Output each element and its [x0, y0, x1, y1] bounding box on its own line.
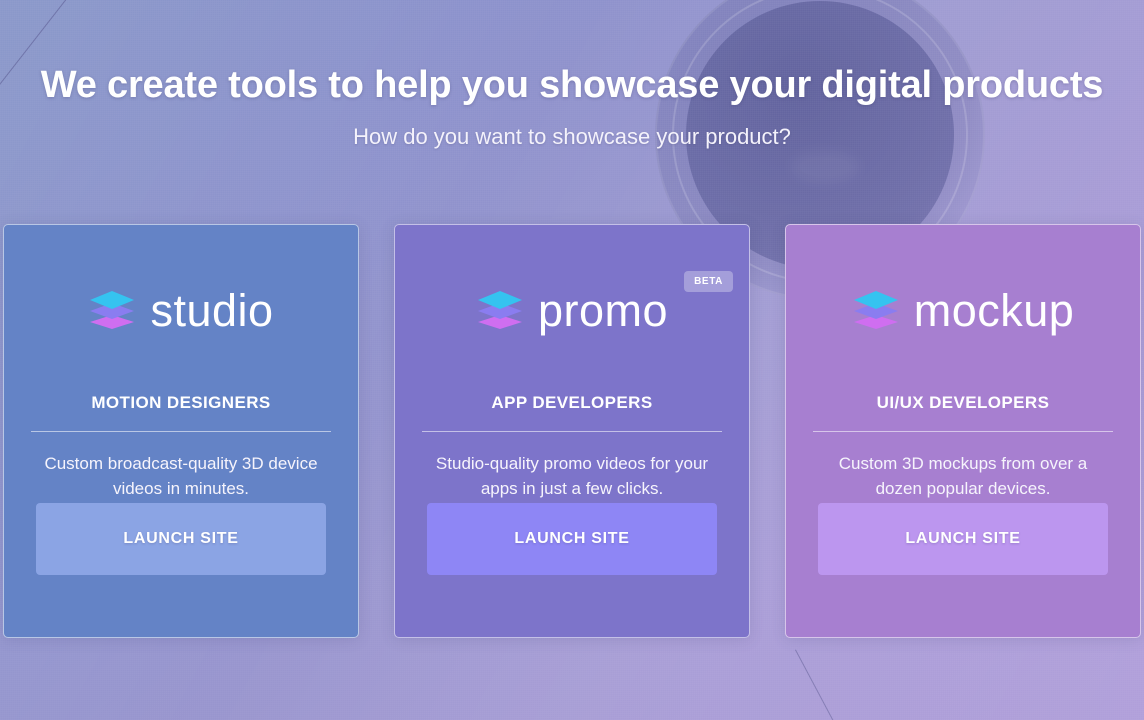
launch-site-button-studio[interactable]: LAUNCH SITE — [36, 503, 326, 575]
product-audience-label: MOTION DESIGNERS — [91, 393, 270, 413]
product-logo-mockup: mockup — [818, 281, 1108, 339]
product-card-studio[interactable]: studio MOTION DESIGNERS Custom broadcast… — [3, 224, 359, 638]
product-audience-label: UI/UX DEVELOPERS — [877, 393, 1050, 413]
page-subtitle: How do you want to showcase your product… — [0, 124, 1144, 150]
layers-icon — [476, 289, 524, 331]
product-logo-studio: studio — [36, 281, 326, 339]
product-card-promo[interactable]: BETA promo APP DEVELOPERS Studio-quality… — [394, 224, 750, 638]
launch-site-button-mockup[interactable]: LAUNCH SITE — [818, 503, 1108, 575]
layers-icon — [88, 289, 136, 331]
product-card-mockup[interactable]: mockup UI/UX DEVELOPERS Custom 3D mockup… — [785, 224, 1141, 638]
lens-glint-decoration — [790, 150, 860, 184]
product-description: Studio-quality promo videos for your app… — [427, 452, 717, 501]
product-wordmark: mockup — [914, 288, 1075, 333]
product-audience-label: APP DEVELOPERS — [491, 393, 652, 413]
status-badge-beta: BETA — [684, 271, 733, 292]
launch-site-button-promo[interactable]: LAUNCH SITE — [427, 503, 717, 575]
diagonal-line-decoration-bottom-right — [795, 650, 890, 720]
product-wordmark: studio — [150, 288, 273, 333]
product-logo-promo: promo — [427, 281, 717, 339]
page-header: We create tools to help you showcase you… — [0, 0, 1144, 150]
layers-icon — [852, 289, 900, 331]
page-root: We create tools to help you showcase you… — [0, 0, 1144, 720]
page-title: We create tools to help you showcase you… — [0, 64, 1144, 108]
card-divider — [813, 431, 1113, 432]
product-description: Custom broadcast-quality 3D device video… — [36, 452, 326, 501]
product-wordmark: promo — [538, 288, 668, 333]
card-divider — [31, 431, 331, 432]
product-card-list: studio MOTION DESIGNERS Custom broadcast… — [0, 224, 1144, 640]
product-description: Custom 3D mockups from over a dozen popu… — [818, 452, 1108, 501]
card-divider — [422, 431, 722, 432]
